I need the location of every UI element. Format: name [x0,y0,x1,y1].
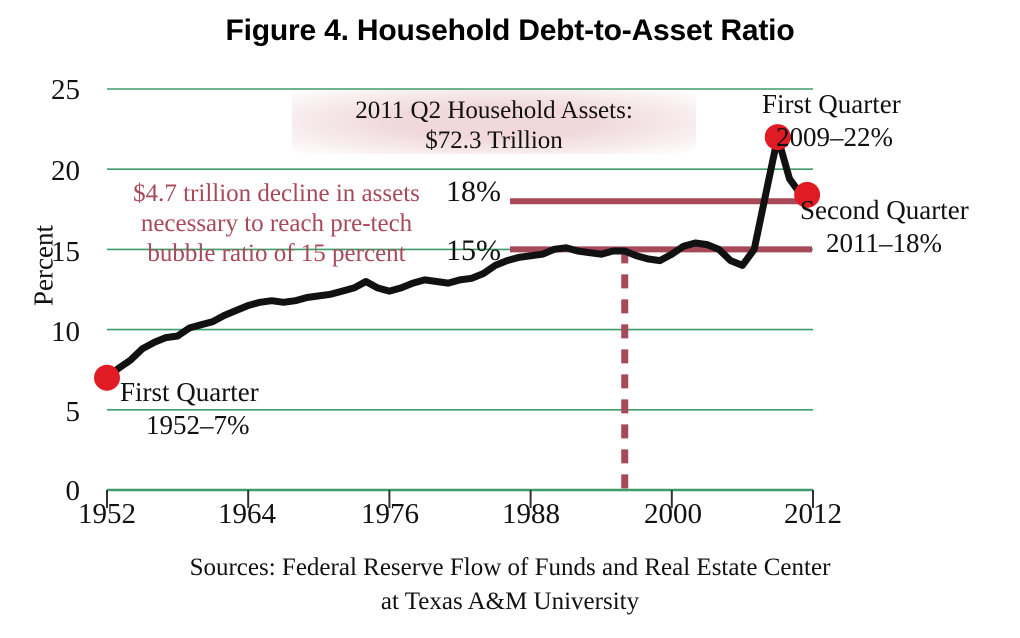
reference-lines [510,201,812,490]
source-line-2: at Texas A&M University [0,586,1020,619]
callout-1952-line2: 1952–7% [146,409,259,442]
callout-first-quarter-1952: First Quarter 1952–7% [120,376,259,442]
callout-2009-line1: First Quarter [762,88,901,121]
axis-ticks [107,490,813,508]
decline-note: $4.7 trillion decline in assets necessar… [104,179,449,269]
label-18-percent: 18% [446,177,501,207]
assets-callout-line2: $72.3 Trillion [292,126,696,156]
callout-second-quarter-2011: Second Quarter 2011–18% [800,194,969,260]
assets-callout-text: 2011 Q2 Household Assets: $72.3 Trillion [292,96,696,155]
callout-first-quarter-2009: First Quarter 2009–22% [762,88,901,154]
callout-2011-line1: Second Quarter [800,194,969,227]
assets-callout-line1: 2011 Q2 Household Assets: [292,96,696,126]
callout-2009-line2: 2009–22% [776,121,901,154]
callout-1952-line1: First Quarter [120,376,259,409]
label-15-percent: 15% [446,236,501,266]
callout-2011-line2: 2011–18% [826,227,969,260]
source-line-1: Sources: Federal Reserve Flow of Funds a… [0,552,1020,585]
figure-container: Figure 4. Household Debt-to-Asset Ratio … [0,0,1020,638]
